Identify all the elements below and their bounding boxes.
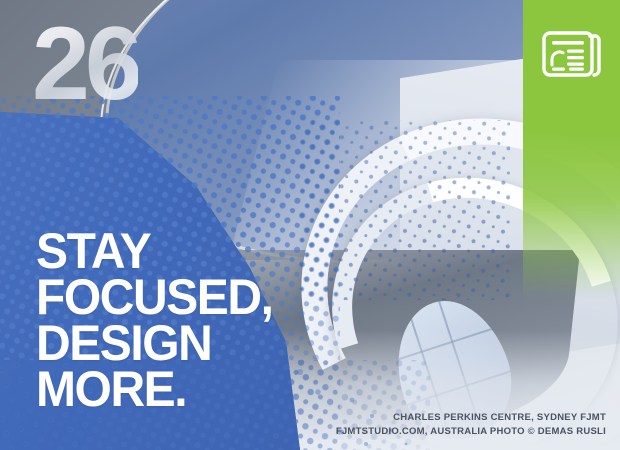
headline-line-3: DESIGN: [36, 320, 273, 366]
headline-line-4: MORE.: [36, 366, 273, 412]
newspaper-article-icon[interactable]: [538, 27, 604, 83]
headline-line-2: FOCUSED,: [36, 274, 273, 320]
headline: STAY FOCUSED, DESIGN MORE.: [36, 228, 273, 412]
promo-card: 26 STAY FOCUSED, DESIGN MORE. CHARL: [0, 0, 620, 450]
headline-line-1: STAY: [36, 228, 273, 274]
photo-credit-caption: CHARLES PERKINS CENTRE, SYDNEY FJMT FJMT…: [336, 411, 606, 439]
issue-number: 26: [32, 12, 138, 116]
caption-line-2: FJMTSTUDIO.COM, AUSTRALIA PHOTO © DEMAS …: [336, 425, 606, 439]
caption-line-1: CHARLES PERKINS CENTRE, SYDNEY FJMT: [336, 411, 606, 425]
